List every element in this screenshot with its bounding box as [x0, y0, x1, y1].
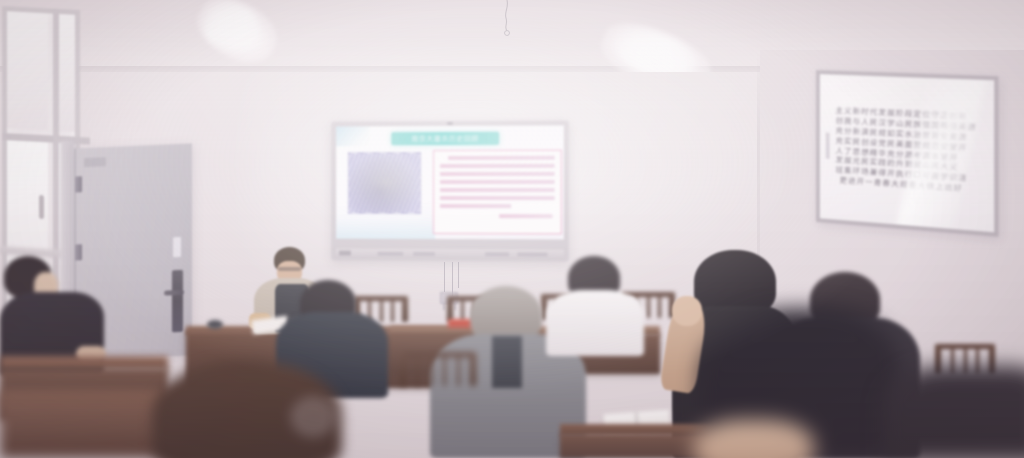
interactive-whiteboard[interactable]: 南京大屠杀历史回顾 — [331, 120, 569, 261]
window-pane-top-left — [7, 11, 48, 130]
ceiling-hook-icon — [500, 0, 516, 36]
slide-body-line — [440, 164, 555, 168]
slide-body-line — [440, 180, 555, 184]
classroom-scene: 南京大屠杀历史回顾 — [0, 0, 1024, 458]
board-button-input[interactable] — [413, 252, 435, 256]
foreground-shoulder-right — [884, 366, 1024, 458]
slide-title-banner: 南京大屠杀历史回顾 — [391, 132, 499, 145]
board-brand-logo — [339, 251, 351, 256]
board-bottom-bezel — [336, 249, 564, 260]
framed-calligraphy: 主义新时代发展阶段定位守正创新 创我与人民汉学山民族强国略强美源 充分新演民规如… — [816, 70, 999, 237]
keycard-reader-icon[interactable] — [172, 236, 182, 258]
attendee-hands — [694, 420, 814, 458]
board-button-power[interactable] — [377, 252, 403, 256]
board-button-menu[interactable] — [485, 252, 509, 256]
window-handle[interactable] — [39, 195, 44, 219]
glasses-icon — [292, 398, 334, 436]
window-pane-top-right — [59, 14, 75, 132]
attendee-collar — [492, 336, 522, 388]
slide-signature-line — [499, 214, 552, 218]
slide-body-line — [440, 188, 555, 192]
door-lock-plate — [172, 270, 183, 332]
board-cable-2 — [452, 262, 453, 296]
door-hinge-bottom — [75, 244, 82, 260]
door-hinge-top — [75, 176, 82, 192]
slide-title-text: 南京大屠杀历史回顾 — [411, 133, 478, 143]
board-cable-3 — [458, 262, 459, 288]
chair-slats — [403, 357, 473, 386]
door-sign — [84, 157, 106, 167]
slide-historical-photo — [348, 152, 421, 214]
slide-body-line — [440, 196, 555, 200]
attendee-shirt — [546, 290, 644, 356]
chair-foreground — [400, 352, 476, 386]
slide-body-line — [448, 156, 555, 160]
board-display: 南京大屠杀历史回顾 — [336, 125, 564, 239]
computer-mouse — [207, 320, 223, 329]
attendee-hand — [672, 296, 702, 326]
slide-body-line — [440, 204, 511, 208]
presenter-glasses-icon — [278, 267, 301, 271]
board-cable-1 — [444, 262, 445, 292]
calligraphy-seal — [826, 133, 830, 159]
board-camera-icon — [447, 122, 453, 125]
presentation-slide: 南京大屠杀历史回顾 — [336, 125, 564, 239]
board-button-volume[interactable] — [517, 252, 547, 256]
slide-body-line — [440, 172, 555, 176]
slide-corner-decoration — [336, 126, 369, 146]
door-handle[interactable] — [164, 290, 184, 296]
slide-text-box — [433, 150, 562, 235]
wall-plate-leg-left — [443, 303, 445, 310]
